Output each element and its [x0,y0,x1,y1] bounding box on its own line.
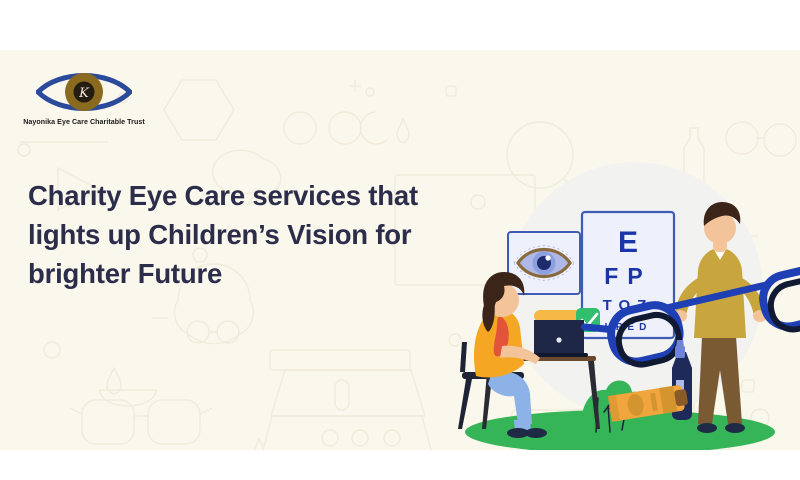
banner-image: K Nayonika Eye Care Charitable Trust Cha… [0,0,800,480]
laptop [528,320,588,357]
svg-text:E: E [618,226,638,259]
headline-line-1: Charity Eye Care services that [28,176,498,215]
page-title: Charity Eye Care services that lights up… [28,176,498,293]
hero-illustration: E FP TOZ LPED [430,150,800,450]
shoe [525,428,547,438]
nayonika-eye-care-logo[interactable]: K Nayonika Eye Care Charitable Trust [14,68,154,138]
svg-text:K: K [78,86,90,101]
logo-text: Nayonika Eye Care Charitable Trust [14,118,154,126]
headline-line-3: brighter Future [28,254,498,293]
shoe [725,423,745,433]
shoe [697,423,717,433]
eye-logo-icon: K [36,68,132,116]
svg-text:FP: FP [604,263,651,289]
headline-line-2: lights up Children’s Vision for [28,215,498,254]
